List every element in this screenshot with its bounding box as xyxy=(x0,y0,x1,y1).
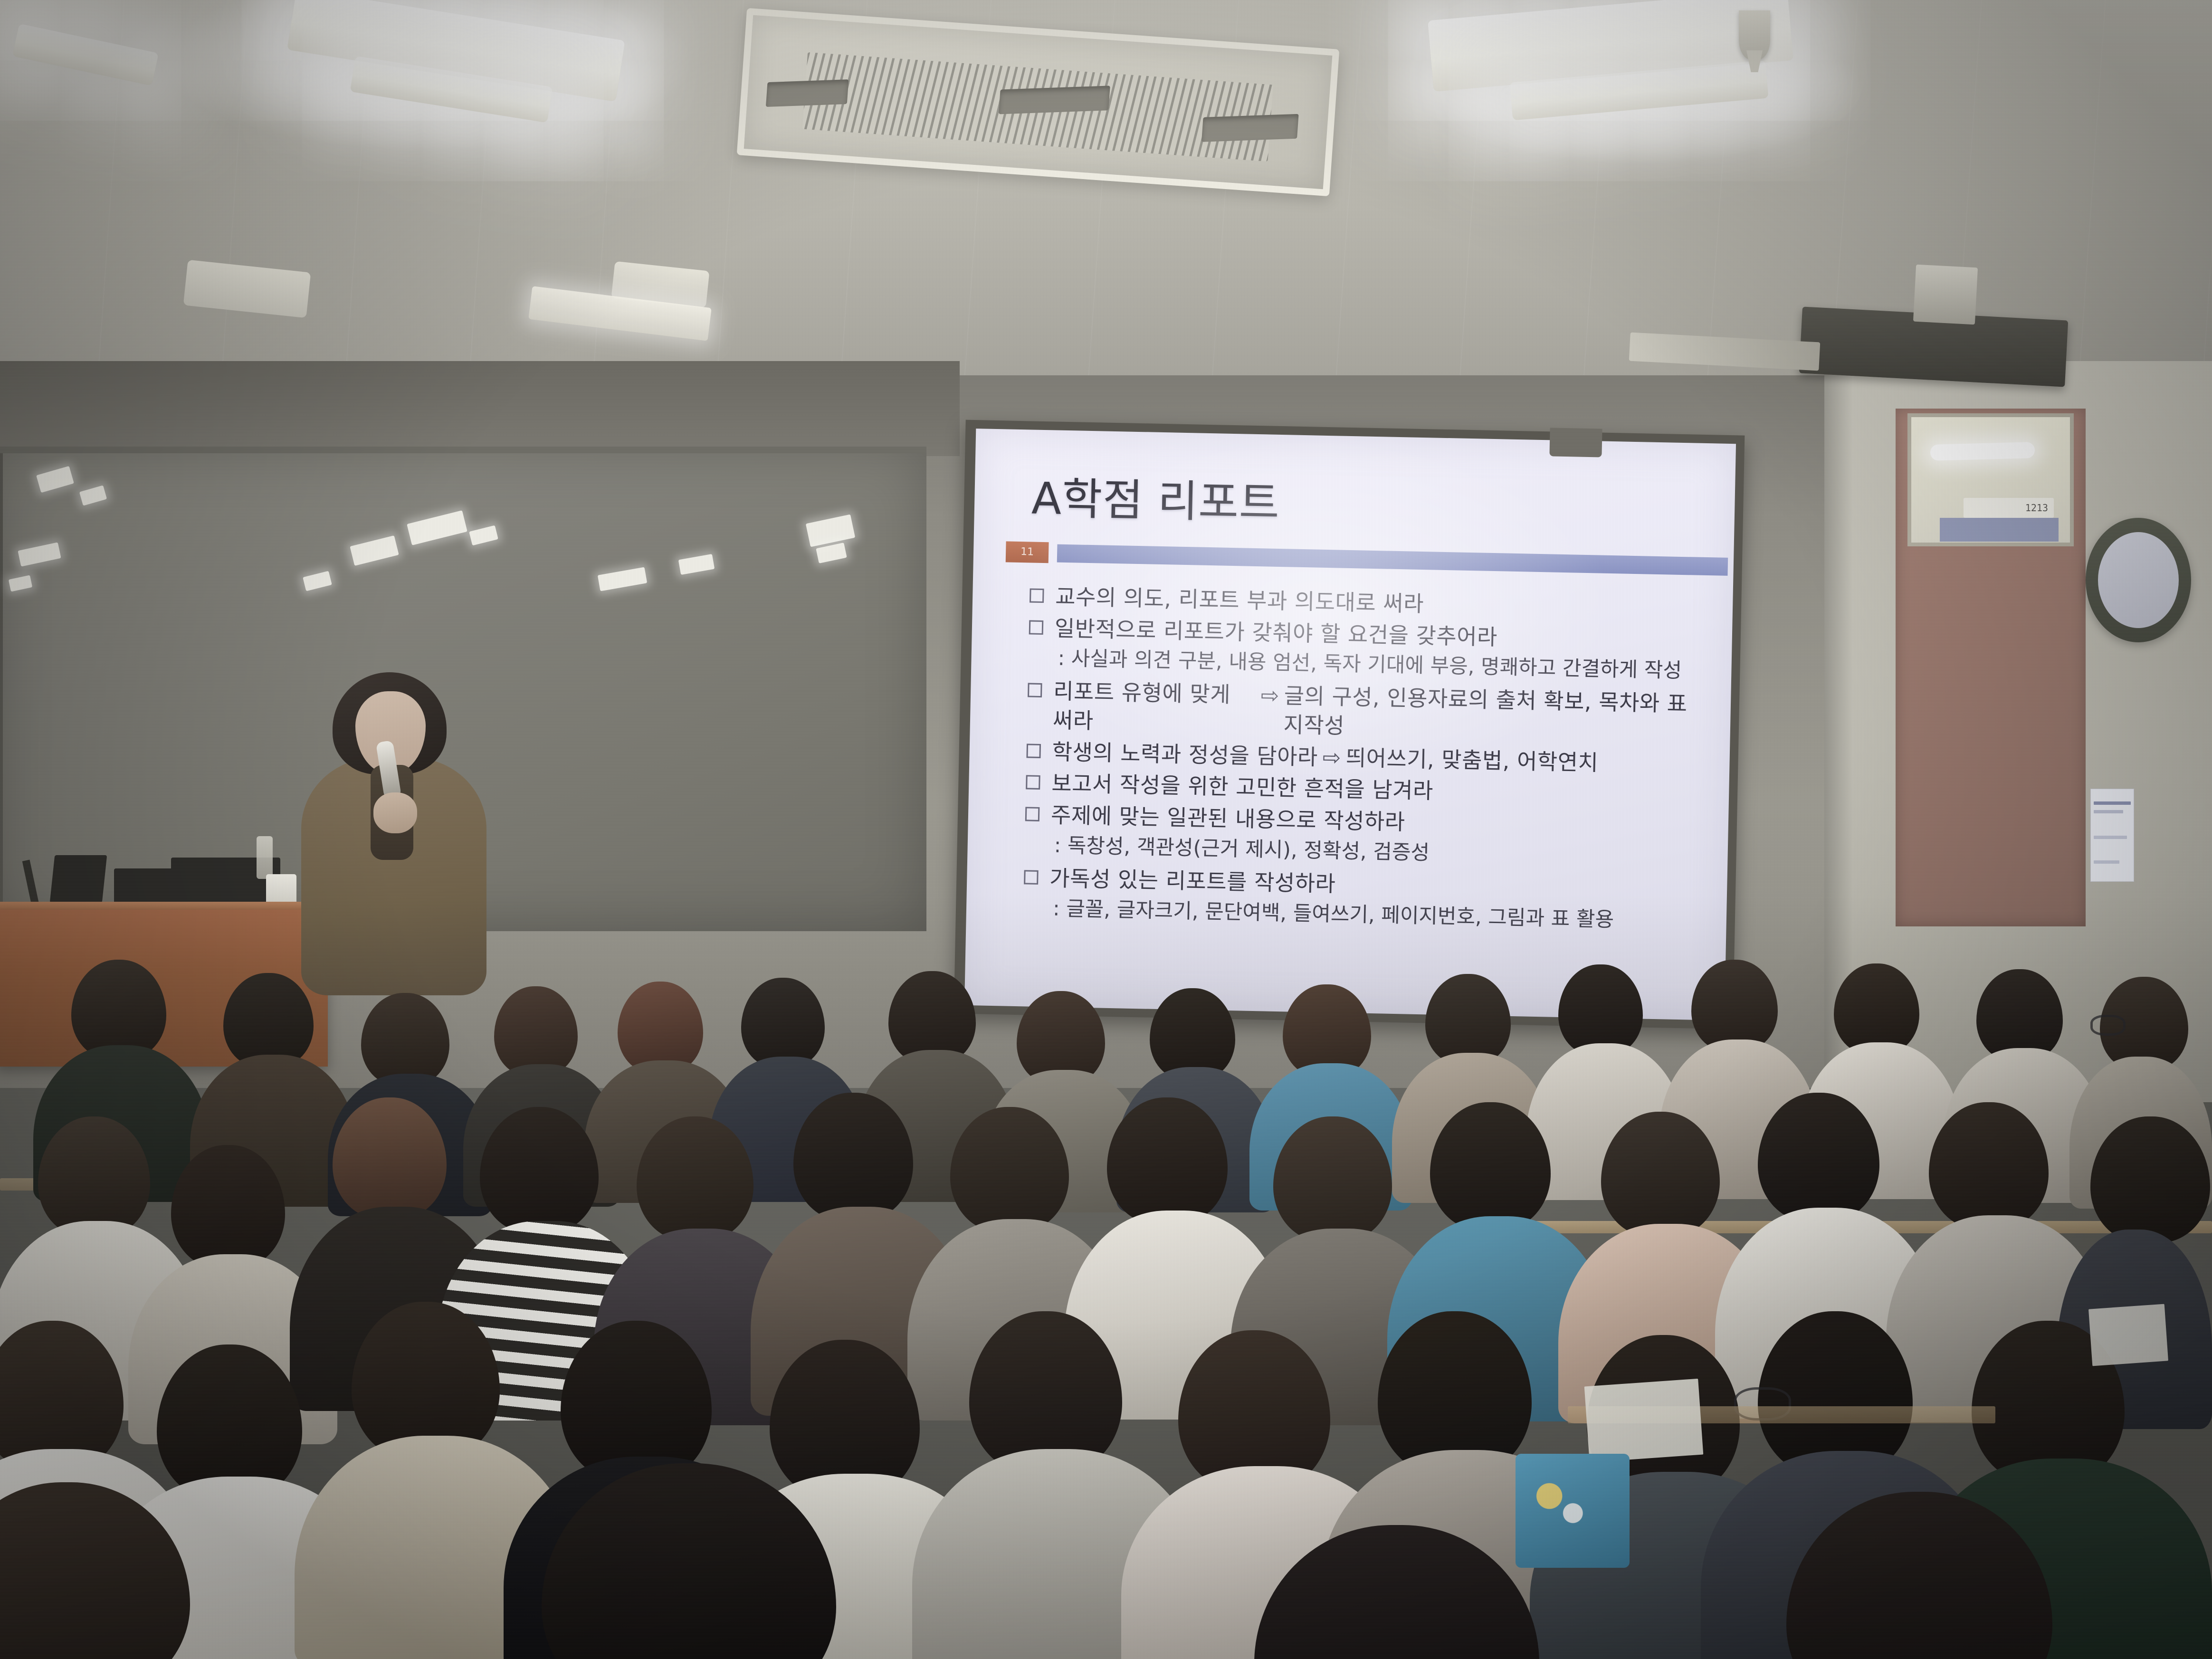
bullet-text: 일반적으로 리포트가 갖춰야 할 요건을 갖추어라 xyxy=(1054,614,1497,651)
clock-hands xyxy=(2086,518,2191,642)
screen-mount-clip xyxy=(1549,428,1602,457)
bullet-text: 리포트 유형에 맞게 써라 xyxy=(1052,677,1256,739)
bullet-after-text: 띄어쓰기, 맞춤법, 어학연치 xyxy=(1345,744,1599,777)
bullet-text: 학생의 노력과 정성을 담아라 xyxy=(1052,737,1318,772)
arrow-right-icon: ⇨ xyxy=(1256,681,1284,710)
instructor-hand xyxy=(373,792,417,833)
wall-clock xyxy=(2086,518,2191,642)
checkbox-icon xyxy=(1026,744,1041,758)
slide-rule-bar xyxy=(1057,544,1728,576)
lecture-hall-photo: A학점 리포트 11 교수의 의도, 리포트 부과 의도대로 써라 일반적으로 … xyxy=(0,0,2212,1659)
slide-title: A학점 리포트 xyxy=(1031,463,1280,531)
checkbox-icon xyxy=(1030,588,1044,603)
room-number-sign: 1213 xyxy=(1964,498,2054,518)
clock-minute-hand xyxy=(2128,582,2139,612)
slide-header-rule: 11 xyxy=(1006,541,1700,576)
slide-bullet-list: 교수의 의도, 리포트 부과 의도대로 써라 일반적으로 리포트가 갖춰야 할 … xyxy=(1023,582,1704,940)
checkbox-icon xyxy=(1029,620,1044,635)
audience-area: lulu xyxy=(0,893,2212,1659)
checkbox-icon xyxy=(1028,683,1042,698)
bullet-text: 교수의 의도, 리포트 부과 의도대로 써라 xyxy=(1055,582,1424,619)
transom-window: 1213 xyxy=(1907,413,2074,546)
water-bottle-icon xyxy=(257,836,273,879)
backpack-icon xyxy=(1516,1454,1630,1568)
corridor-panel xyxy=(1940,518,2059,542)
upper-wall-band xyxy=(0,361,960,456)
bullet-text: 주제에 맞는 일관된 내용으로 작성하라 xyxy=(1050,801,1405,837)
slide-page-badge: 11 xyxy=(1006,541,1049,563)
checkbox-icon xyxy=(1025,807,1040,822)
ac-vane xyxy=(999,86,1110,114)
arrow-right-icon: ⇨ xyxy=(1317,743,1346,772)
corridor-light-icon xyxy=(1930,442,2035,461)
clock-hour-hand xyxy=(2137,562,2146,583)
checkbox-icon xyxy=(1024,870,1039,885)
wall-notice xyxy=(2090,789,2134,882)
sprinkler-head-icon xyxy=(1739,10,1770,60)
board-frame xyxy=(0,447,3,931)
ac-vane xyxy=(766,79,849,107)
list-item: 리포트 유형에 맞게 써라 ⇨ 글의 구성, 인용자료의 출처 확보, 목차와 … xyxy=(1027,677,1702,748)
board-frame xyxy=(0,447,926,453)
ac-vane xyxy=(1201,114,1299,142)
bullet-text: 보고서 작성을 위한 고민한 흔적을 남겨라 xyxy=(1051,769,1434,806)
projector-mount xyxy=(1913,265,1978,325)
bullet-after-text: 글의 구성, 인용자료의 출처 확보, 목차와 표지작성 xyxy=(1283,682,1703,748)
checkbox-icon xyxy=(1026,775,1040,790)
